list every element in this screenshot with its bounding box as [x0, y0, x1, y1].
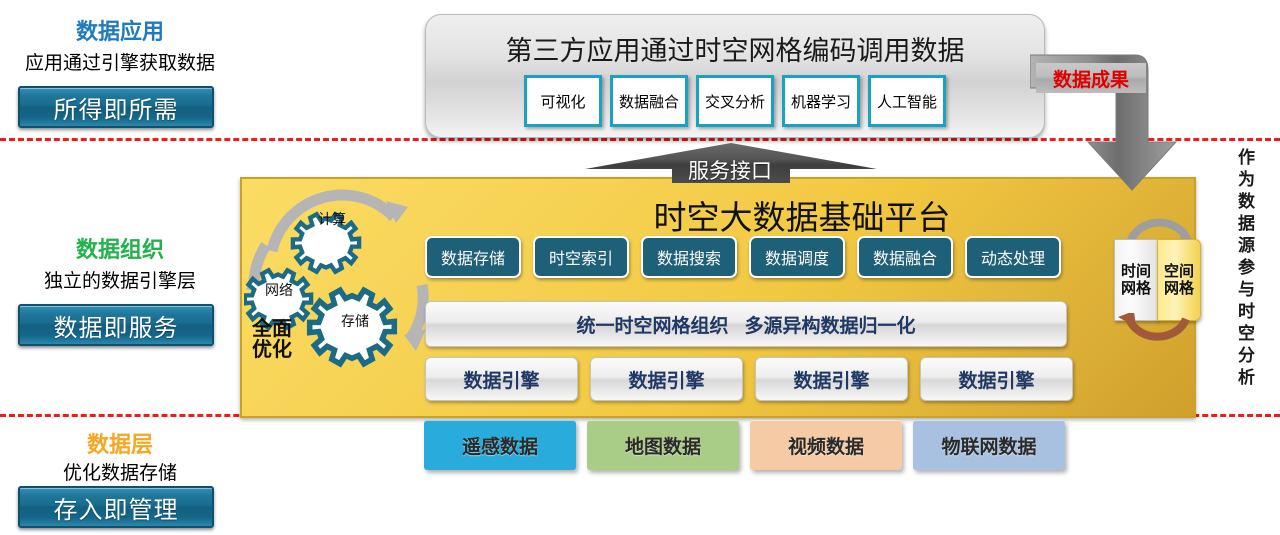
sidebar-title-data-application: 数据应用 [0, 14, 240, 46]
grid-module-bottom-arrow [1116, 313, 1194, 345]
sidebar-subtitle-data-organization: 独立的数据引擎层 [0, 266, 240, 293]
data-source-iot[interactable]: 物联网数据 [913, 420, 1065, 470]
grid-bar-text-2: 多源异构数据归一化 [745, 311, 916, 338]
gear-label-storage: 存储 [336, 315, 374, 330]
gear-label-network: 网络 [262, 284, 296, 299]
app-box-artificial-intelligence[interactable]: 人工智能 [868, 75, 946, 127]
app-box-visualization[interactable]: 可视化 [524, 75, 602, 127]
grid-bar-text-1: 统一时空网格组织 [576, 311, 728, 338]
grid-module-space-cell: 空间网格 [1157, 239, 1201, 321]
app-box-data-fusion[interactable]: 数据融合 [610, 75, 688, 127]
sidebar-button-data-organization[interactable]: 数据即服务 [18, 304, 214, 346]
capability-spatiotemporal-index[interactable]: 时空索引 [533, 236, 629, 278]
capability-row: 数据存储 时空索引 数据搜索 数据调度 数据融合 动态处理 [425, 236, 1061, 278]
service-interface-label: 服务接口 [585, 155, 875, 185]
capability-data-fusion[interactable]: 数据融合 [857, 236, 953, 278]
sidebar-subtitle-data-layer: 优化数据存储 [0, 458, 240, 485]
unified-grid-bar: 统一时空网格组织 多源异构数据归一化 [425, 301, 1067, 347]
platform-title: 时空大数据基础平台 [502, 191, 1102, 239]
gear-label-compute: 计算 [318, 213, 346, 228]
data-source-video[interactable]: 视频数据 [750, 420, 902, 470]
app-box-cross-analysis[interactable]: 交叉分析 [696, 75, 774, 127]
capability-data-storage[interactable]: 数据存储 [425, 236, 521, 278]
data-engine-row: 数据引擎 数据引擎 数据引擎 数据引擎 [425, 357, 1073, 401]
sidebar-button-data-application[interactable]: 所得即所需 [18, 86, 214, 128]
time-space-grid-module: 时间网格 空间网格 [1114, 239, 1200, 319]
data-engine-1[interactable]: 数据引擎 [425, 357, 578, 401]
top-panel-title: 第三方应用通过时空网格编码调用数据 [426, 29, 1044, 68]
app-box-machine-learning[interactable]: 机器学习 [782, 75, 860, 127]
data-result-ribbon: 数据成果 [1036, 63, 1146, 93]
application-box-row: 可视化 数据融合 交叉分析 机器学习 人工智能 [426, 75, 1044, 127]
overall-optimization-label: 全面优化 [252, 318, 292, 360]
sidebar-subtitle-data-application: 应用通过引擎获取数据 [0, 48, 240, 75]
data-engine-3[interactable]: 数据引擎 [755, 357, 908, 401]
data-engine-4[interactable]: 数据引擎 [920, 357, 1073, 401]
capability-dynamic-processing[interactable]: 动态处理 [965, 236, 1061, 278]
data-source-remote-sensing[interactable]: 遥感数据 [424, 420, 576, 470]
capability-data-search[interactable]: 数据搜索 [641, 236, 737, 278]
sidebar-title-data-layer: 数据层 [0, 427, 240, 459]
data-source-map[interactable]: 地图数据 [587, 420, 739, 470]
data-source-row: 遥感数据 地图数据 视频数据 物联网数据 [424, 420, 1065, 470]
sidebar-title-data-organization: 数据组织 [0, 232, 240, 264]
sidebar-button-data-layer[interactable]: 存入即管理 [18, 486, 214, 528]
grid-module-time-cell: 时间网格 [1114, 239, 1158, 321]
data-engine-2[interactable]: 数据引擎 [590, 357, 743, 401]
third-party-application-panel: 第三方应用通过时空网格编码调用数据 可视化 数据融合 交叉分析 机器学习 人工智… [425, 14, 1045, 138]
capability-data-scheduling[interactable]: 数据调度 [749, 236, 845, 278]
